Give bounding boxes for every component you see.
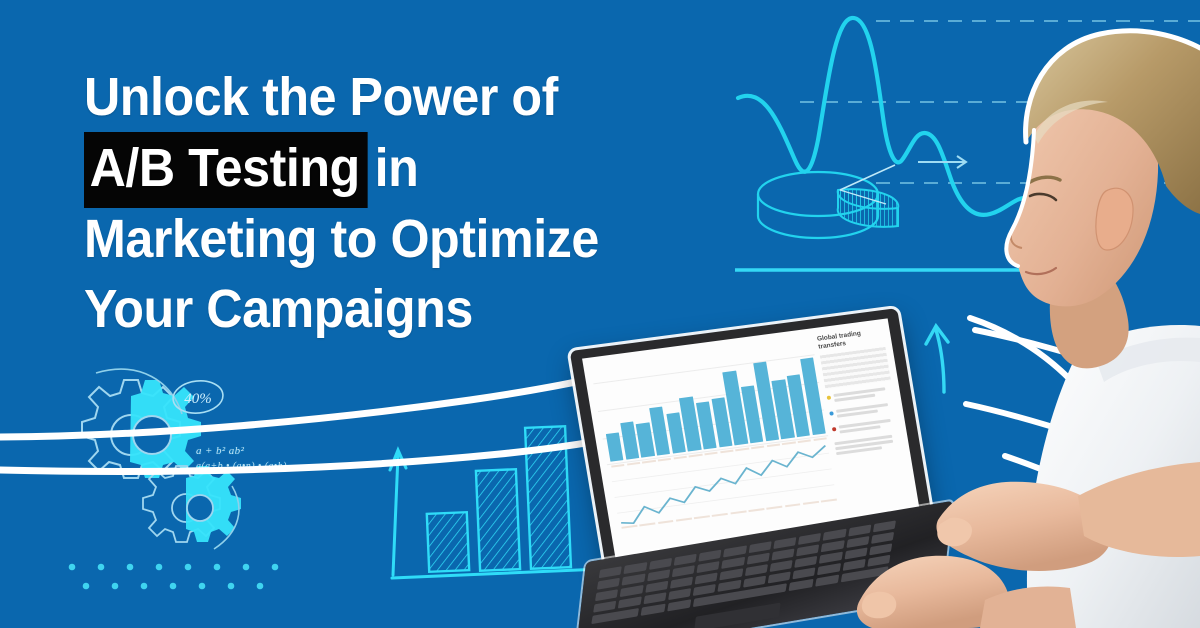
headline-highlight: A/B Testing	[84, 132, 367, 208]
headline-block: Unlock the Power of A/B Testingin Market…	[84, 62, 784, 344]
hand-left-fingers	[862, 592, 896, 619]
headline-line-1: Unlock the Power of	[84, 62, 735, 132]
banner-canvas: 40% a + b² ab² a(a+b • (a•n) • (a•h)	[0, 0, 1200, 628]
headline-line-2: A/B Testingin	[84, 132, 735, 204]
headline-line-4: Your Campaigns	[84, 274, 735, 344]
headline-line-3: Marketing to Optimize	[84, 204, 735, 274]
headline-line-2-tail: in	[367, 138, 418, 198]
